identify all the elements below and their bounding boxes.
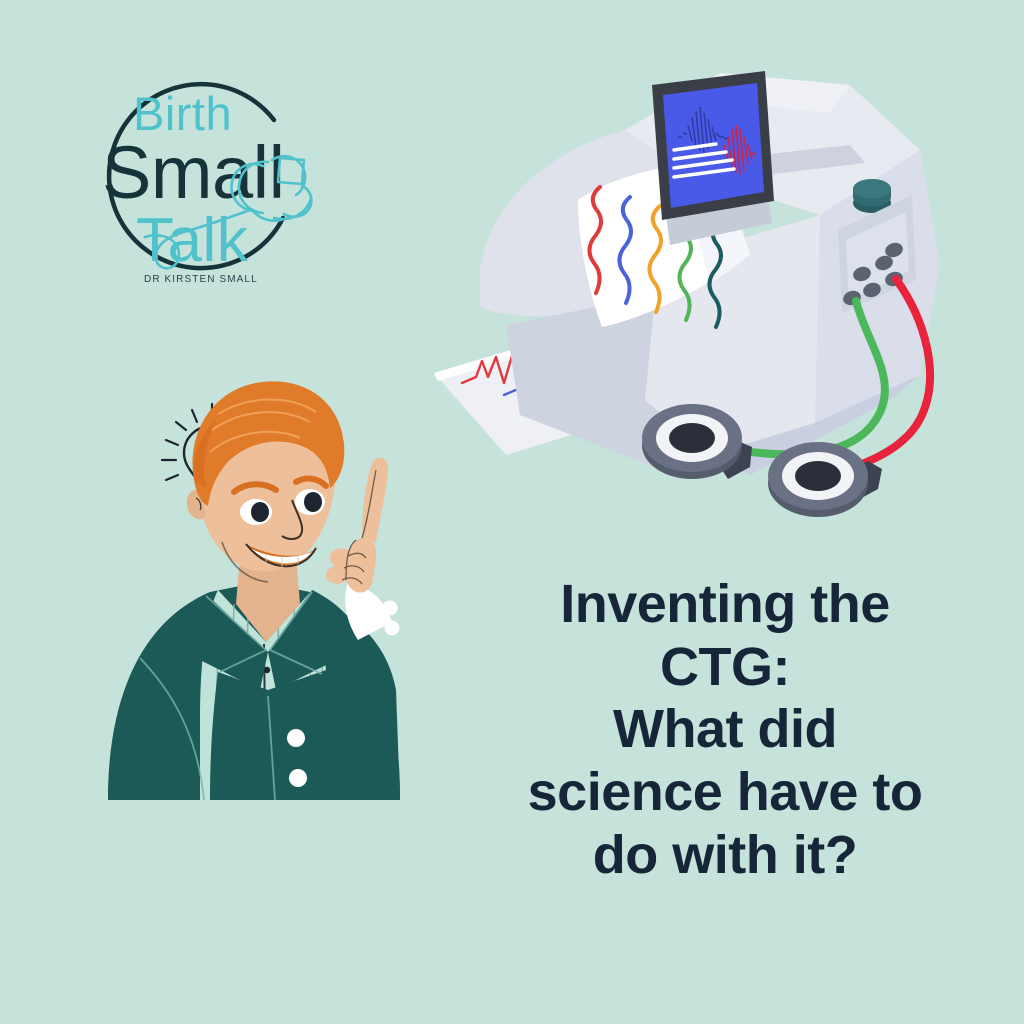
- poster-canvas: Birth Small Talk DR KIRSTEN SMALL: [0, 0, 1024, 1024]
- page-title: Inventing the CTG: What did science have…: [455, 573, 995, 886]
- title-line-3: What did: [455, 698, 995, 761]
- man-with-idea-illustration: [100, 360, 450, 820]
- title-line-4: science have to: [455, 761, 995, 824]
- pointing-arm: [326, 458, 400, 800]
- title-line-2: CTG:: [455, 636, 995, 699]
- logo-subtitle: DR KIRSTEN SMALL: [144, 274, 258, 285]
- brand-logo[interactable]: Birth Small Talk DR KIRSTEN SMALL: [78, 58, 318, 308]
- transducer-probe-right[interactable]: [768, 442, 882, 517]
- ctg-machine-illustration: [420, 55, 1000, 555]
- machine-screen[interactable]: [652, 71, 774, 245]
- logo-line-small: Small: [102, 131, 285, 214]
- title-line-1: Inventing the: [455, 573, 995, 636]
- title-line-5: do with it?: [455, 824, 995, 887]
